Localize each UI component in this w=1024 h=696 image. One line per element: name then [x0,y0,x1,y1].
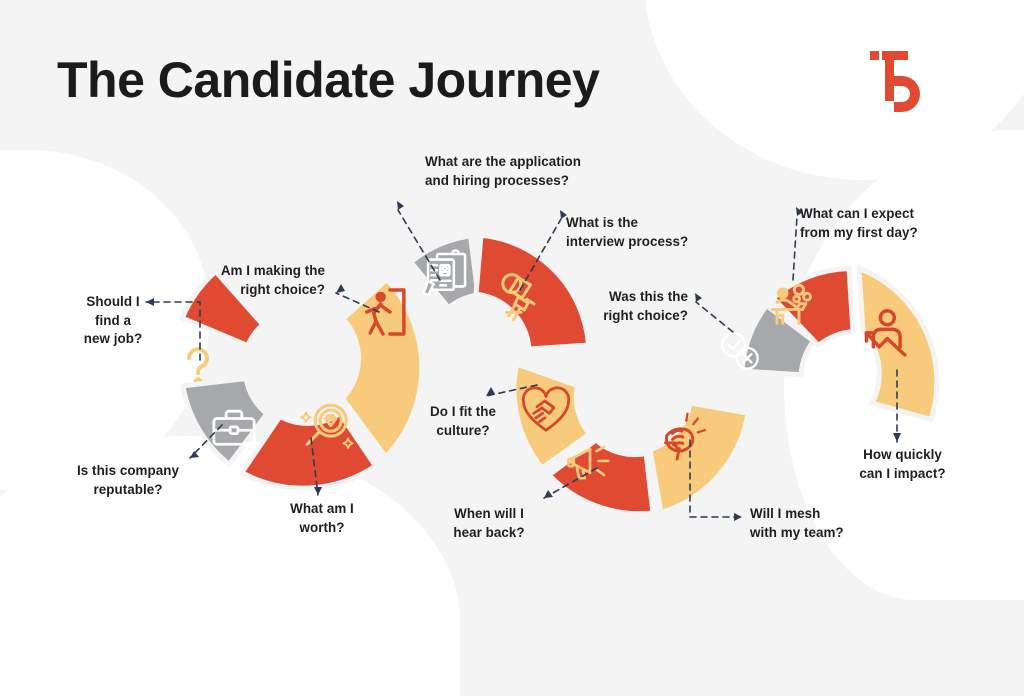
callout-find-new-job: Should I find a new job? [64,293,162,349]
infographic-canvas: The Candidate Journey [0,0,1024,576]
question-mark-icon [189,349,207,384]
segment-application-hiring[interactable] [411,236,478,308]
callout-right-choice: Am I making the right choice? [170,262,325,299]
left-arc-group [182,272,422,489]
segment-interview-process[interactable] [476,235,589,349]
callout-hear-back: When will I hear back? [437,505,541,542]
callout-application-hiring: What are the application and hiring proc… [425,153,625,190]
segment-mesh-with-team[interactable] [650,403,748,513]
callout-mesh-with-team: Will I mesh with my team? [750,505,890,542]
callout-how-quickly-impact: How quickly can I impact? [845,446,960,483]
callout-what-am-i-worth: What am I worth? [272,500,372,537]
valley-arc-group [514,364,748,514]
callout-interview-process: What is the interview process? [566,214,706,251]
callout-company-reputable: Is this company reputable? [56,462,200,499]
callout-was-right-choice: Was this the right choice? [590,288,688,325]
callout-fit-culture: Do I fit the culture? [414,403,512,440]
segment-how-quickly-impact[interactable] [859,268,937,419]
crest-arc-group [411,235,589,349]
callout-first-day: What can I expect from my first day? [800,205,970,242]
right-arc-group [722,268,937,419]
